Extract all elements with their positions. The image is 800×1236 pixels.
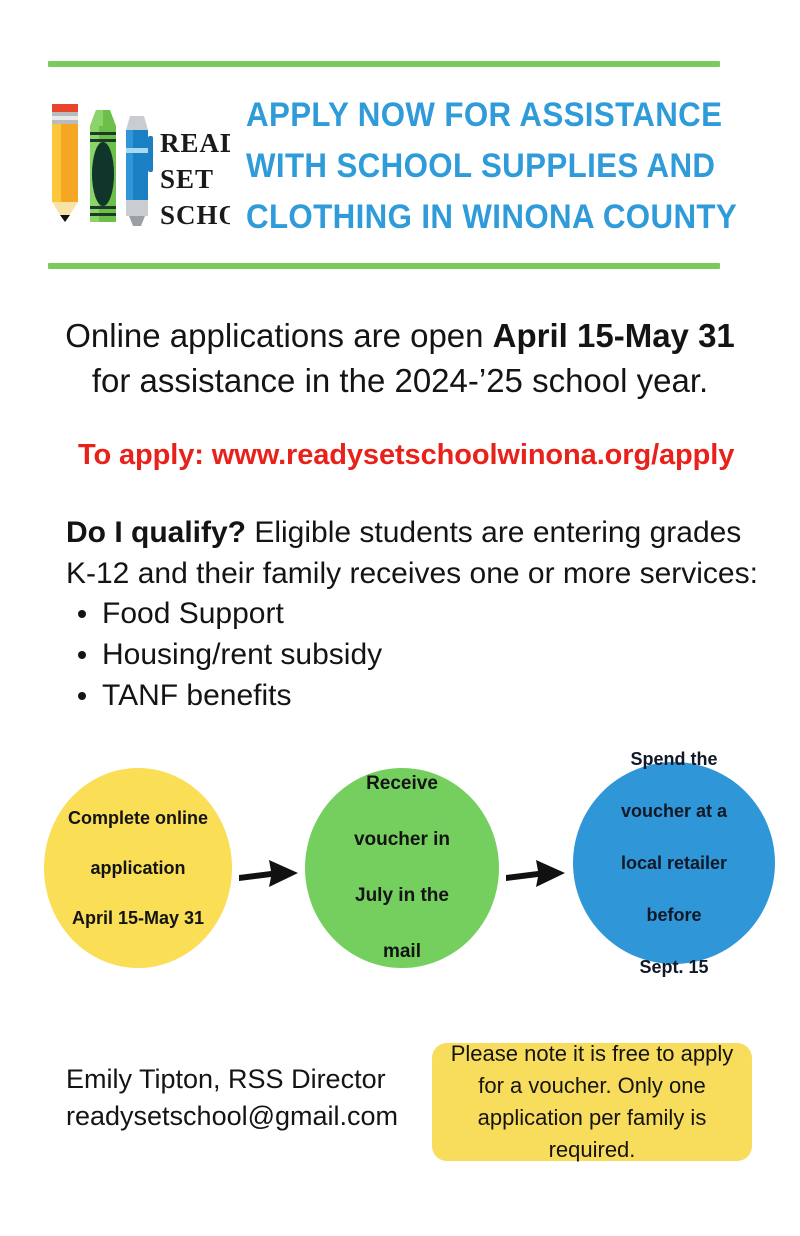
intro-date-range: April 15-May 31 — [493, 317, 735, 354]
svg-text:READY: READY — [160, 128, 230, 158]
process-flow: Complete online application April 15-May… — [0, 758, 800, 980]
process-step-3-line-1: Spend the — [615, 746, 733, 772]
ready-set-school-logo: READY SET SCHOOL — [44, 86, 230, 238]
process-step-complete-application: Complete online application April 15-May… — [44, 768, 232, 968]
process-step-receive-voucher: Receive voucher in July in the mail — [305, 768, 499, 968]
process-step-spend-voucher: Spend the voucher at a local retailer be… — [573, 762, 775, 964]
contact-block: Emily Tipton, RSS Director readysetschoo… — [66, 1061, 466, 1135]
process-step-2-line-3: July in the — [348, 882, 456, 910]
intro-text: Online applications are open April 15-Ma… — [0, 313, 800, 403]
note-text: Please note it is free to apply for a vo… — [450, 1038, 734, 1166]
contact-email[interactable]: readysetschool@gmail.com — [66, 1098, 466, 1135]
process-step-3-text: Spend the voucher at a local retailer be… — [609, 746, 739, 980]
intro-line-1-prefix: Online applications are open — [65, 317, 492, 354]
intro-line-2: for assistance in the 2024-’25 school ye… — [0, 358, 800, 403]
pencil-icon — [52, 104, 78, 222]
svg-text:SCHOOL: SCHOOL — [160, 200, 230, 230]
qualify-heading: Do I qualify? — [66, 516, 246, 549]
apply-label: To apply: — [78, 439, 212, 471]
process-step-1-line-3: April 15-May 31 — [62, 906, 214, 931]
page-title-line-2: WITH SCHOOL SUPPLIES AND — [246, 141, 715, 192]
process-step-2-line-2: voucher in — [348, 826, 456, 854]
arrow-right-icon — [505, 856, 567, 890]
process-step-3-line-5: Sept. 15 — [615, 954, 733, 980]
process-step-3-line-4: before — [615, 902, 733, 928]
header-divider-bottom — [48, 263, 720, 269]
page-title: APPLY NOW FOR ASSISTANCE WITH SCHOOL SUP… — [246, 90, 715, 243]
process-step-1-line-2: application — [62, 856, 214, 881]
qualify-line-2: K-12 and their family receives one or mo… — [66, 553, 766, 594]
list-item: Housing/rent subsidy — [102, 634, 800, 675]
intro-line-1: Online applications are open April 15-Ma… — [0, 313, 800, 358]
crayon-icon — [90, 110, 116, 222]
apply-url-link[interactable]: www.readysetschoolwinona.org/apply — [212, 439, 734, 471]
page-title-line-3: CLOTHING IN WINONA COUNTY — [246, 192, 715, 243]
contact-name-title: Emily Tipton, RSS Director — [66, 1061, 466, 1098]
qualify-text: Do I qualify? Eligible students are ente… — [66, 512, 766, 594]
process-step-1-text: Complete online application April 15-May… — [56, 806, 220, 931]
qualify-body-1: Eligible students are entering grades — [246, 516, 741, 549]
process-step-2-line-4: mail — [348, 938, 456, 966]
list-item: TANF benefits — [102, 675, 800, 716]
process-step-3-line-3: local retailer — [615, 850, 733, 876]
note-callout: Please note it is free to apply for a vo… — [432, 1043, 752, 1161]
pen-icon — [126, 116, 153, 226]
process-step-2-line-1: Receive — [348, 770, 456, 798]
qualify-line-1: Do I qualify? Eligible students are ente… — [66, 512, 766, 553]
svg-text:SET: SET — [160, 164, 214, 194]
process-step-2-text: Receive voucher in July in the mail — [342, 770, 462, 966]
qualify-criteria-list: Food Support Housing/rent subsidy TANF b… — [66, 593, 800, 716]
page-title-line-1: APPLY NOW FOR ASSISTANCE — [246, 90, 715, 141]
process-step-3-line-2: voucher at a — [615, 798, 733, 824]
list-item: Food Support — [102, 593, 800, 634]
arrow-right-icon — [238, 856, 300, 890]
process-step-1-line-1: Complete online — [62, 806, 214, 831]
apply-link-row: To apply: www.readysetschoolwinona.org/a… — [78, 437, 778, 473]
header-divider-top — [48, 61, 720, 67]
